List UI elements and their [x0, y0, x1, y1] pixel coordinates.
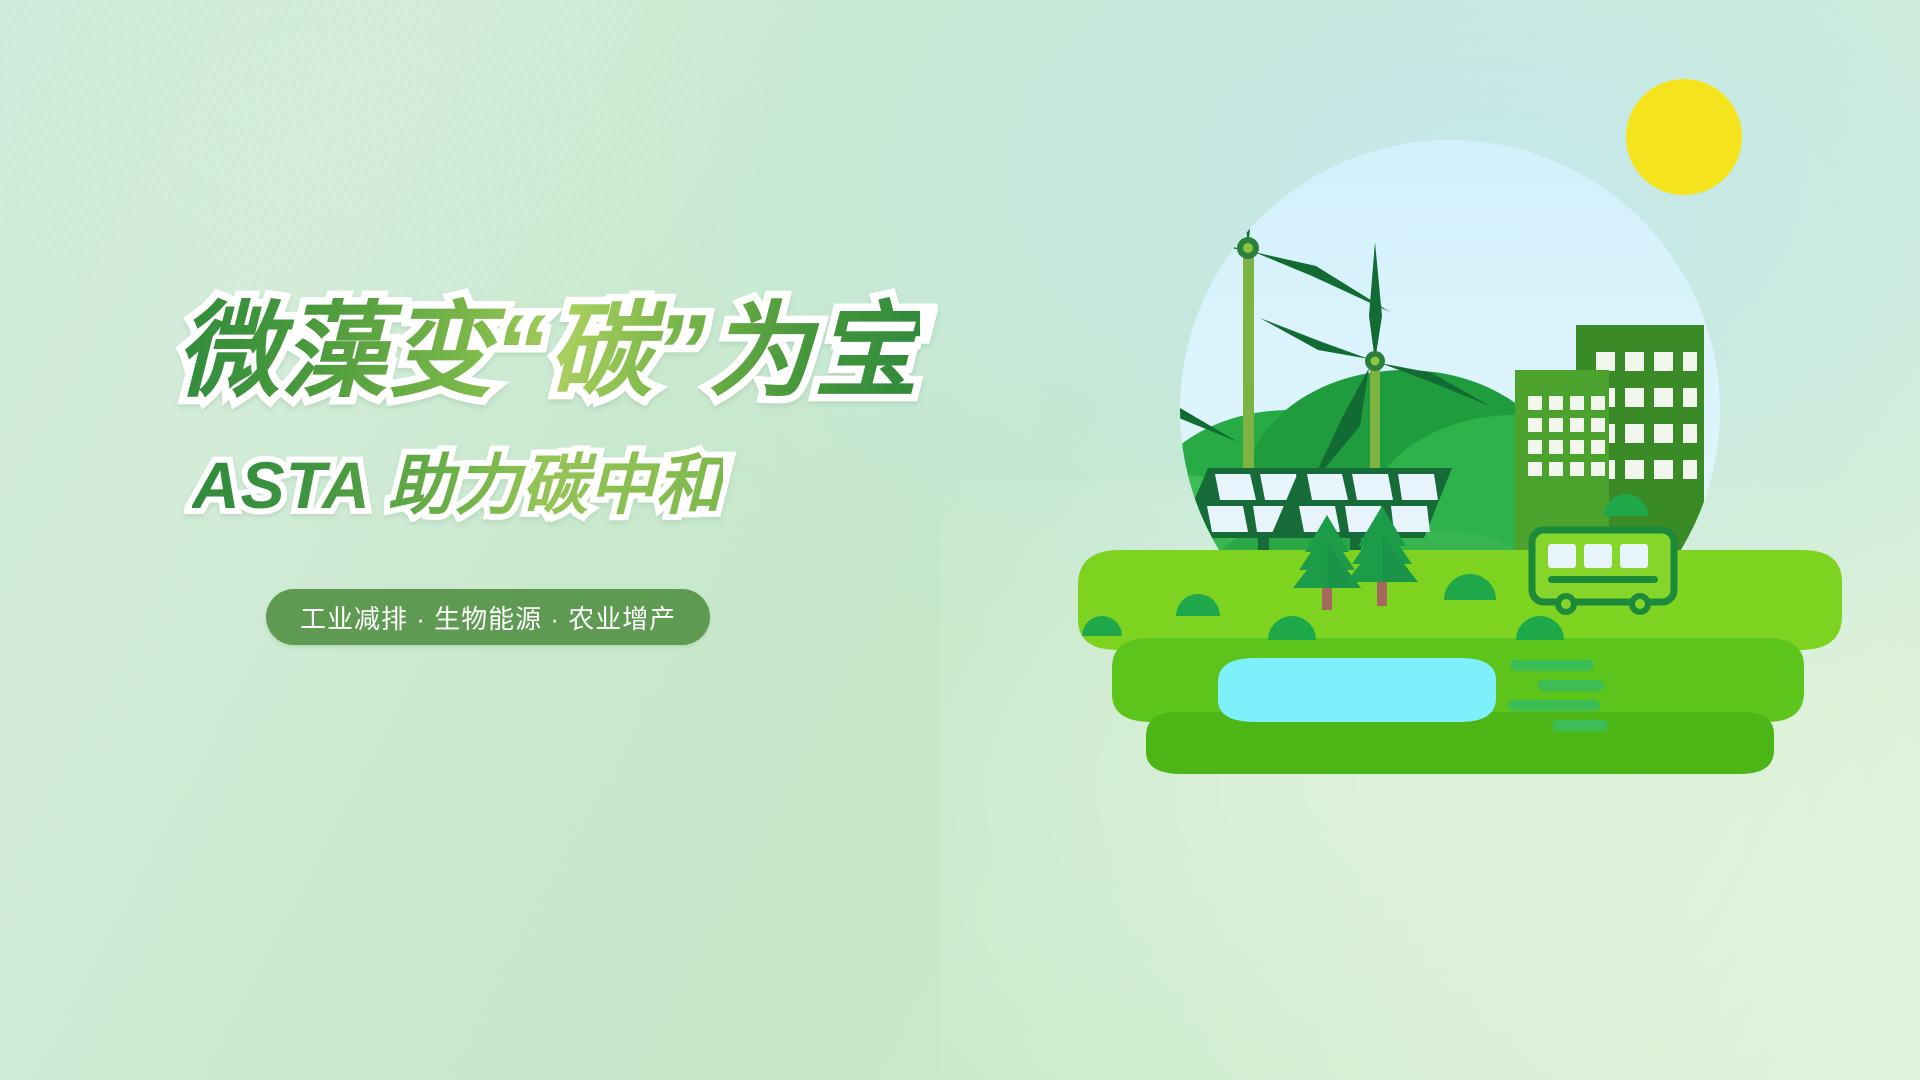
- page-title-fill: 微藻变“碳”为宝: [176, 294, 920, 410]
- page-subtitle-fill: ASTA 助力碳中和: [192, 448, 723, 522]
- banner-copy: 微藻变“碳”为宝 微藻变“碳”为宝 ASTA 助力碳中和 ASTA 助力碳中和 …: [0, 0, 960, 1080]
- pond: [1218, 658, 1496, 722]
- tagline-badge: 工业减排 · 生物能源 · 农业增产: [266, 589, 710, 645]
- page-subtitle: ASTA 助力碳中和 ASTA 助力碳中和: [192, 452, 723, 518]
- electric-bus: [1532, 530, 1674, 615]
- sun-icon: [1626, 79, 1742, 195]
- eco-city-illustration: [1060, 60, 1860, 760]
- page-title: 微藻变“碳”为宝 微藻变“碳”为宝: [176, 300, 920, 404]
- tagline-text: 工业减排 · 生物能源 · 农业增产: [300, 599, 676, 636]
